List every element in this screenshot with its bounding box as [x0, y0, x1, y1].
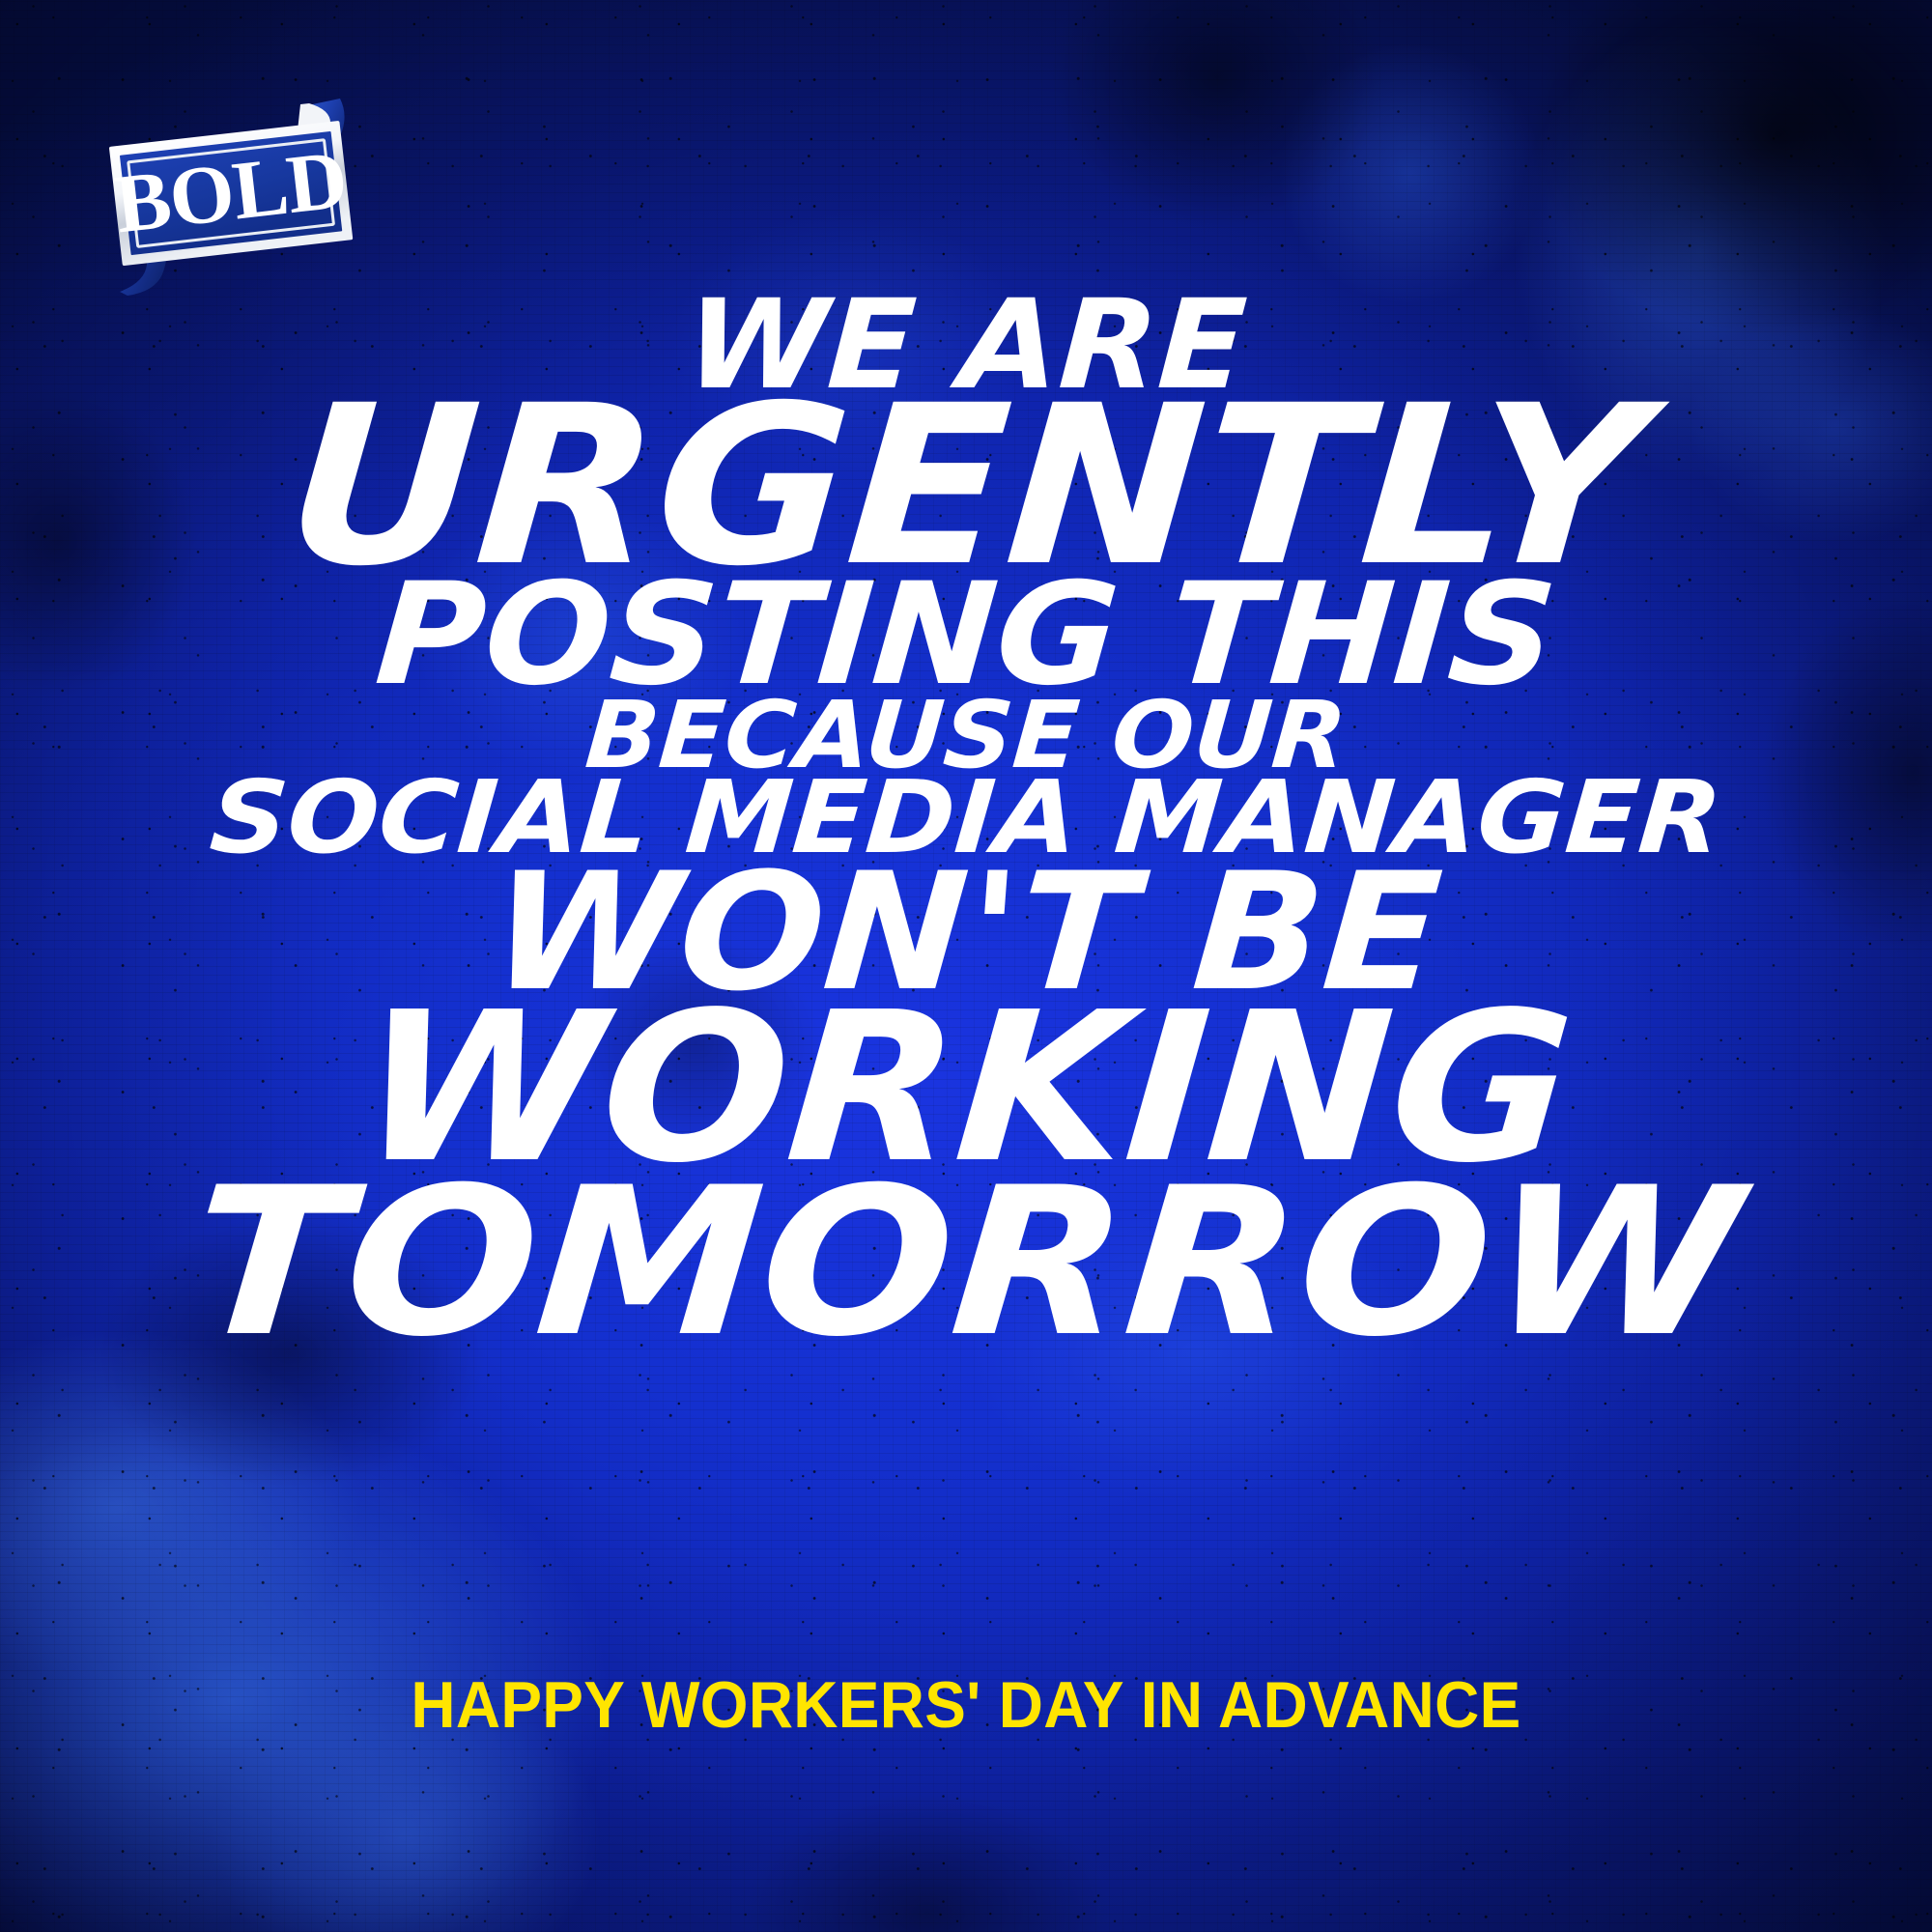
headline-block: WE ARE URGENTLY POSTING THIS BECAUSE OUR…	[0, 290, 1932, 1354]
footer-tagline: HAPPY WORKERS' DAY IN ADVANCE	[58, 1667, 1874, 1743]
ribbon-plate: BOLD	[109, 121, 353, 266]
bold-brand-logo[interactable]: BOLD	[104, 93, 365, 298]
headline-line-8: TOMORROW	[0, 1171, 1932, 1355]
social-post-canvas: BOLD WE ARE URGENTLY POSTING THIS BECAUS…	[0, 0, 1932, 1932]
